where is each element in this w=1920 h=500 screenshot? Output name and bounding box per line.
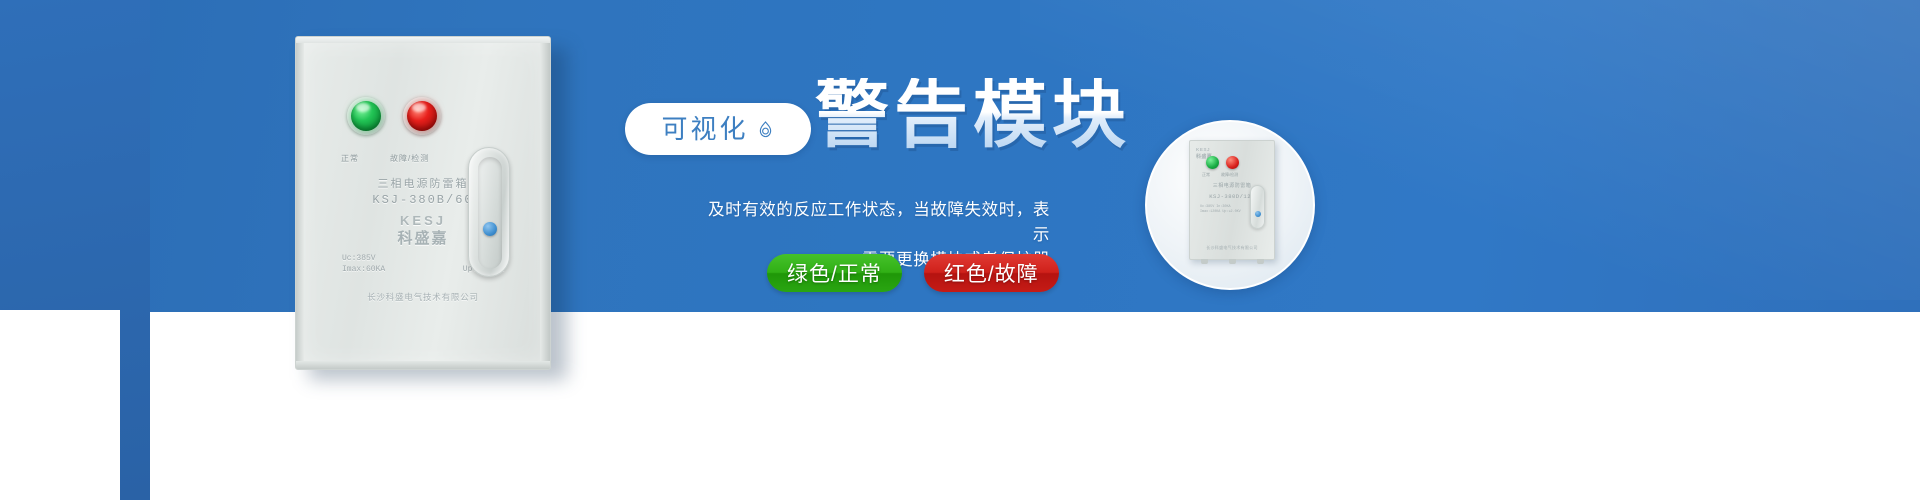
inset-device-enclosure: KESJ 科盛嘉 正常 故障/检测 三相电源防雷箱 KSJ-380D/120 U…: [1189, 140, 1275, 260]
inset-label-fault: 故障/检测: [1221, 172, 1238, 178]
inset-switch-handle: [1250, 185, 1265, 229]
banner-left-white-corner: [0, 310, 120, 500]
visualization-pill-label: 可视化: [661, 116, 748, 142]
visualization-pill: 可视化: [625, 103, 811, 155]
device-enclosure: 正常 故障/检测 三相电源防雷箱 KSJ-380B/60 KESJ 科盛嘉 Uc…: [295, 36, 551, 370]
device-photo: 正常 故障/检测 三相电源防雷箱 KSJ-380B/60 KESJ 科盛嘉 Uc…: [295, 36, 555, 372]
inset-company: 长沙科盛电气技术有限公司: [1190, 245, 1274, 251]
device-label-normal: 正常: [341, 153, 359, 164]
green-indicator-led: [347, 97, 385, 135]
device-switch-track: [478, 157, 502, 269]
device-company: 长沙科盛电气技术有限公司: [296, 291, 550, 303]
device-spec-uc: Uc:385V: [342, 253, 376, 264]
inset-foot: [1257, 259, 1264, 264]
device-edge-top: [296, 37, 550, 43]
device-label-fault: 故障/检测: [390, 153, 429, 164]
device-spec-imax: Imax:60KA: [342, 264, 385, 275]
inset-device-feet: [1190, 259, 1274, 264]
status-badge-normal: 绿色/正常: [767, 254, 902, 292]
eye-icon: [756, 120, 775, 139]
banner-background-white-band: [0, 312, 1920, 500]
promo-banner: 正常 故障/检测 三相电源防雷箱 KSJ-380B/60 KESJ 科盛嘉 Uc…: [0, 0, 1920, 500]
led-highlight: [412, 103, 426, 112]
inset-brand-latin: KESJ: [1196, 147, 1210, 152]
device-model: KSJ-380B/60: [296, 193, 550, 207]
inset-foot: [1229, 259, 1236, 264]
status-badge-fault: 红色/故障: [924, 254, 1059, 292]
device-product-title: 三相电源防雷箱: [296, 175, 550, 191]
red-indicator-led: [403, 97, 441, 135]
device-brand-cn: 科盛嘉: [296, 227, 550, 248]
device-switch-handle: [468, 147, 510, 277]
inset-label-normal: 正常: [1202, 172, 1210, 178]
banner-subtitle-line-1: 及时有效的反应工作状态，当故障失效时，表示: [700, 198, 1050, 248]
inset-switch-knob: [1255, 211, 1261, 217]
status-badge-group: 绿色/正常 红色/故障: [767, 254, 1059, 292]
device-edge-bottom: [296, 361, 550, 369]
inset-specs: Uc:385V In:30KA Imax:120KA Up:≤2.0KV: [1200, 205, 1246, 215]
led-highlight: [356, 103, 370, 112]
banner-background-highlight: [1020, 0, 1920, 300]
banner-headline: 警告模块: [815, 78, 1131, 152]
inset-foot: [1201, 259, 1208, 264]
device-inset-circle: KESJ 科盛嘉 正常 故障/检测 三相电源防雷箱 KSJ-380D/120 U…: [1145, 120, 1315, 290]
device-brand-latin: KESJ: [296, 213, 550, 228]
inset-red-led: [1226, 156, 1239, 169]
device-switch-knob: [483, 222, 497, 236]
inset-green-led: [1206, 156, 1219, 169]
